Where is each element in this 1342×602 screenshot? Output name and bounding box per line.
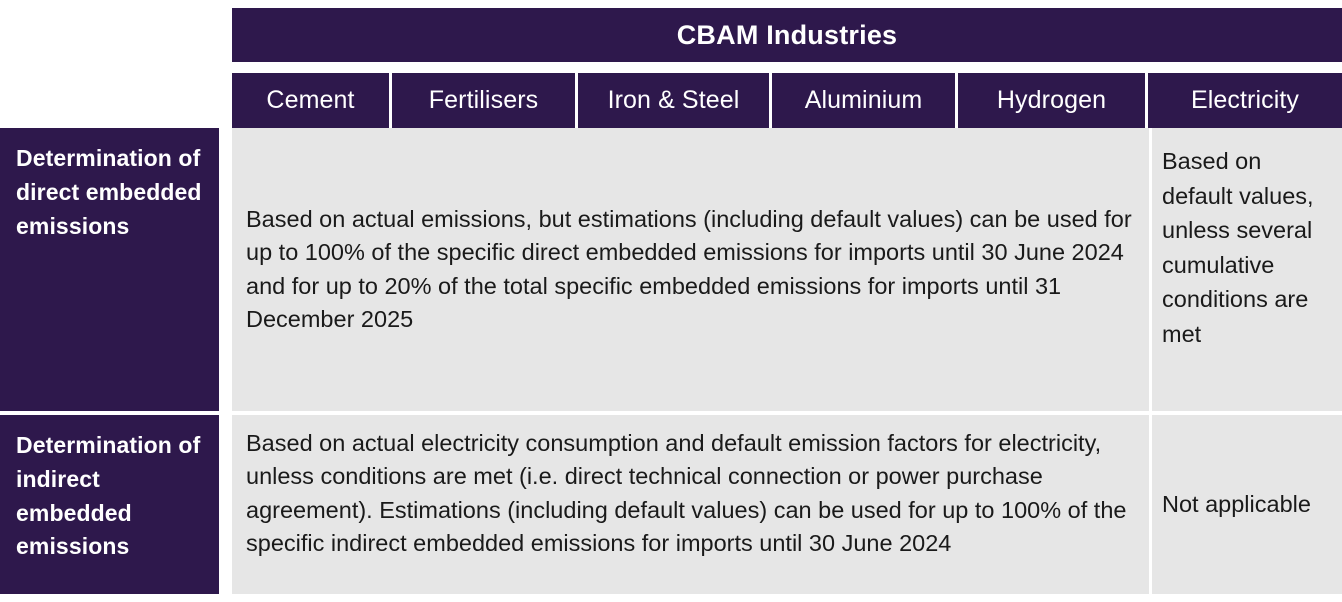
cell-direct-emissions-main: Based on actual emissions, but estimatio… [232, 128, 1149, 411]
cell-direct-emissions-main-text: Based on actual emissions, but estimatio… [246, 203, 1135, 336]
cell-indirect-emissions-main: Based on actual electricity consumption … [232, 415, 1149, 594]
row-label-direct-emissions: Determination of direct embedded emissio… [0, 128, 219, 411]
column-header-cement: Cement [232, 73, 392, 128]
industry-header-row: Cement Fertilisers Iron & Steel Aluminiu… [232, 73, 1342, 128]
cell-indirect-emissions-electricity: Not applicable [1152, 415, 1342, 594]
column-header-iron-steel: Iron & Steel [578, 73, 772, 128]
table-group-header: CBAM Industries [232, 8, 1342, 62]
cbam-comparison-table: CBAM Industries Cement Fertilisers Iron … [0, 0, 1342, 602]
column-header-aluminium: Aluminium [772, 73, 958, 128]
cell-direct-emissions-electricity: Based on default values, unless several … [1152, 128, 1342, 411]
column-header-fertilisers: Fertilisers [392, 73, 578, 128]
column-header-hydrogen: Hydrogen [958, 73, 1148, 128]
row-label-indirect-emissions: Determination of indirect embedded emiss… [0, 415, 219, 594]
cell-indirect-emissions-electricity-text: Not applicable [1162, 487, 1311, 522]
column-header-electricity: Electricity [1148, 73, 1342, 128]
